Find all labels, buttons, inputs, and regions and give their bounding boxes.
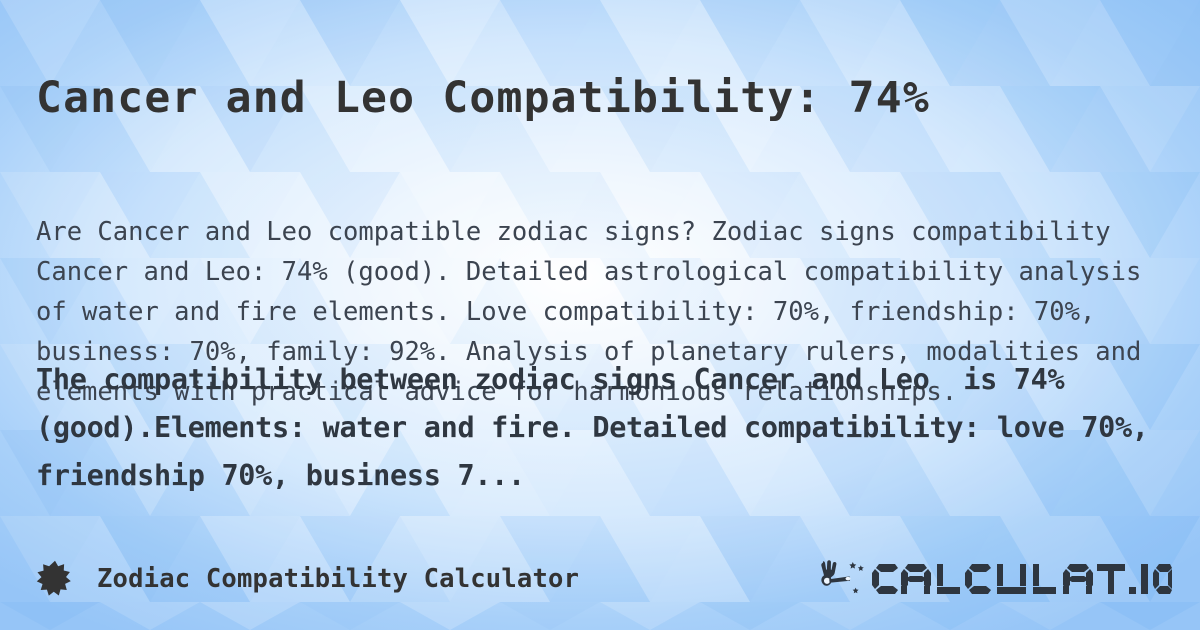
footer: Zodiac Compatibility Calculator xyxy=(0,548,1200,610)
starburst-icon xyxy=(36,560,74,598)
page-title: Cancer and Leo Compatibility: 74% xyxy=(36,69,1166,127)
site-logo[interactable] xyxy=(816,548,1172,610)
og-image-canvas: Cancer and Leo Compatibility: 74% Are Ca… xyxy=(0,0,1200,630)
hand-magic-wand-icon xyxy=(816,558,868,600)
logo-wordmark xyxy=(872,557,1172,601)
footer-brand-label: Zodiac Compatibility Calculator xyxy=(97,564,579,594)
overlay-summary-text: The compatibility between zodiac signs C… xyxy=(36,356,1166,500)
footer-brand-group: Zodiac Compatibility Calculator xyxy=(36,548,579,610)
